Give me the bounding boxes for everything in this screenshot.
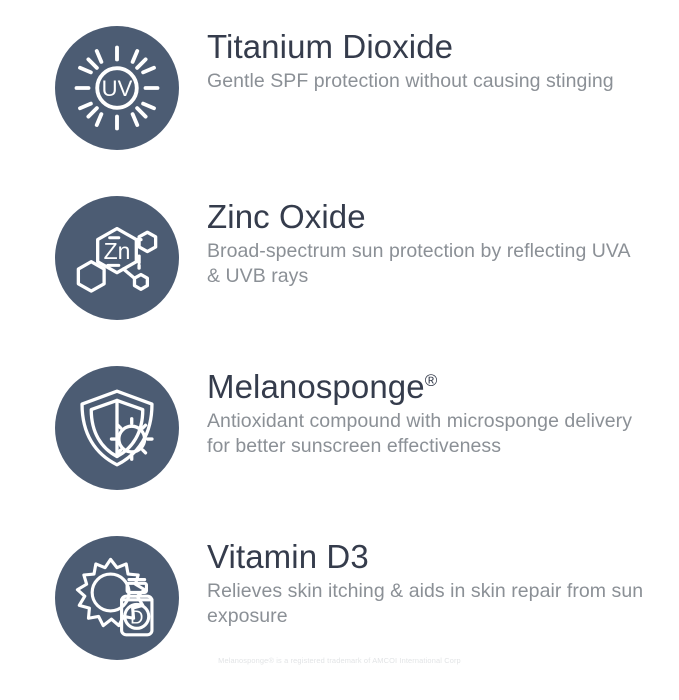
feature-title: Melanosponge® <box>207 368 655 407</box>
feature-row: Zn Zinc Oxide Broad-spectrum sun protect… <box>0 190 679 360</box>
zinc-icon-label: Zn <box>104 238 131 264</box>
uv-icon-label: UV <box>102 76 133 101</box>
feature-title-text: Melanosponge <box>207 368 425 405</box>
zinc-molecule-icon: Zn <box>55 196 179 320</box>
feature-description: Relieves skin itching & aids in skin rep… <box>207 579 647 630</box>
feature-row: UV Titanium Dioxide Gentle SPF protectio… <box>0 20 679 190</box>
feature-text: Melanosponge® Antioxidant compound with … <box>179 360 679 460</box>
feature-text: Vitamin D3 Relieves skin itching & aids … <box>179 530 679 630</box>
registered-trademark-icon: ® <box>425 371 438 390</box>
feature-row: Melanosponge® Antioxidant compound with … <box>0 360 679 530</box>
feature-description: Antioxidant compound with microsponge de… <box>207 409 647 460</box>
feature-row: D Vitamin D3 Relieves skin itching & aid… <box>0 530 679 700</box>
vitamin-d-icon-label: D <box>130 606 143 627</box>
feature-description: Broad-spectrum sun protection by reflect… <box>207 239 647 290</box>
feature-description: Gentle SPF protection without causing st… <box>207 69 647 94</box>
feature-text: Zinc Oxide Broad-spectrum sun protection… <box>179 190 679 290</box>
feature-title: Titanium Dioxide <box>207 28 655 67</box>
feature-text: Titanium Dioxide Gentle SPF protection w… <box>179 20 679 94</box>
ingredient-benefits-infographic: UV Titanium Dioxide Gentle SPF protectio… <box>0 0 679 679</box>
trademark-footnote: Melanosponge® is a registered trademark … <box>0 656 679 665</box>
shield-sun-icon <box>55 366 179 490</box>
uv-sun-icon: UV <box>55 26 179 150</box>
sun-supplement-bottle-icon: D <box>55 536 179 660</box>
feature-title: Vitamin D3 <box>207 538 655 577</box>
feature-title: Zinc Oxide <box>207 198 655 237</box>
